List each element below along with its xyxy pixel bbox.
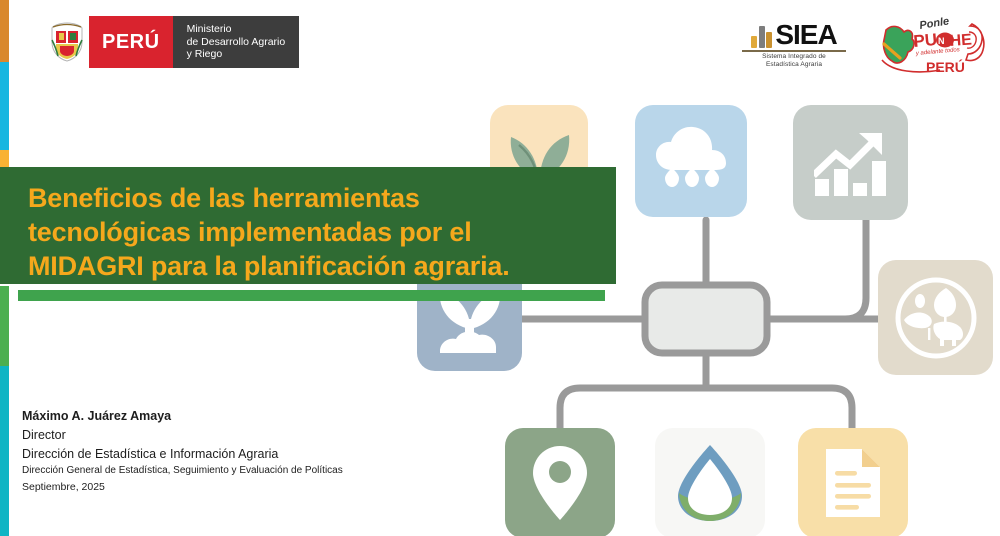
tile-growth-chart bbox=[793, 105, 908, 220]
title-block: Beneficios de las herramientastecnológic… bbox=[0, 167, 616, 284]
diagram-hub bbox=[645, 285, 767, 353]
author-name: Máximo A. Juárez Amaya bbox=[22, 407, 343, 426]
peru-map-flex-arm-icon: Ponle PU N HE y adelante todos PERÚ bbox=[878, 14, 986, 76]
siea-logo: SIEA Sistema Integrado de Estadística Ag… bbox=[738, 14, 850, 68]
peru-coat-of-arms-icon bbox=[45, 16, 89, 68]
siea-subtitle-1: Sistema Integrado de bbox=[738, 53, 850, 61]
siea-divider bbox=[742, 50, 846, 52]
title-line-1: Beneficios de las herramientas bbox=[28, 183, 420, 213]
svg-text:N: N bbox=[938, 36, 945, 46]
title-line-3: MIDAGRI para la planificación agraria. bbox=[28, 251, 510, 281]
author-direction: Dirección de Estadística e Información A… bbox=[22, 445, 343, 464]
tile-rain-cloud bbox=[635, 105, 747, 217]
ministry-line-1: Ministerio bbox=[187, 23, 286, 36]
ministry-name: Ministerio de Desarrollo Agrario y Riego bbox=[173, 16, 300, 68]
ministry-line-3: y Riego bbox=[187, 48, 286, 61]
ministry-logo: PERÚ Ministerio de Desarrollo Agrario y … bbox=[45, 16, 299, 68]
ministry-line-2: de Desarrollo Agrario bbox=[187, 36, 286, 49]
map-pin-icon bbox=[531, 444, 589, 522]
tile-agriculture-circle bbox=[878, 260, 993, 375]
agriculture-circle-icon bbox=[890, 272, 982, 364]
page-title: Beneficios de las herramientastecnológic… bbox=[0, 167, 616, 283]
tile-water-drop bbox=[655, 428, 765, 536]
siea-subtitle-2: Estadística Agraria bbox=[738, 61, 850, 69]
svg-text:PERÚ: PERÚ bbox=[926, 58, 965, 75]
accent-bar-orange bbox=[0, 0, 9, 62]
growth-chart-icon bbox=[814, 127, 888, 199]
accent-bar-green bbox=[0, 286, 9, 366]
header-right-logos: SIEA Sistema Integrado de Estadística Ag… bbox=[738, 14, 986, 76]
author-role: Director bbox=[22, 426, 343, 445]
bar-chart-icon bbox=[751, 22, 772, 48]
presentation-date: Septiembre, 2025 bbox=[22, 479, 343, 495]
slide-root: PERÚ Ministerio de Desarrollo Agrario y … bbox=[0, 0, 1000, 536]
tile-map-pin bbox=[505, 428, 615, 536]
author-general-direction: Dirección General de Estadística, Seguim… bbox=[22, 463, 343, 479]
accent-bar-cyan bbox=[0, 62, 9, 150]
title-underline-rule bbox=[18, 290, 605, 301]
peru-wordmark: PERÚ bbox=[89, 16, 173, 68]
tile-document bbox=[798, 428, 908, 536]
title-line-2: tecnológicas implementadas por el bbox=[28, 217, 472, 247]
siea-wordmark: SIEA bbox=[775, 22, 836, 48]
accent-bar-yellow bbox=[0, 150, 9, 168]
ponle-punche-peru-logo: Ponle PU N HE y adelante todos PERÚ bbox=[878, 14, 986, 76]
accent-bar-teal bbox=[0, 366, 9, 536]
author-block: Máximo A. Juárez Amaya Director Direcció… bbox=[22, 407, 343, 496]
technology-diagram bbox=[400, 88, 1000, 536]
rain-cloud-icon bbox=[654, 126, 728, 196]
svg-text:PU: PU bbox=[913, 30, 938, 51]
siea-mark: SIEA bbox=[738, 14, 850, 48]
water-drop-icon bbox=[672, 443, 748, 523]
document-icon bbox=[822, 445, 884, 521]
